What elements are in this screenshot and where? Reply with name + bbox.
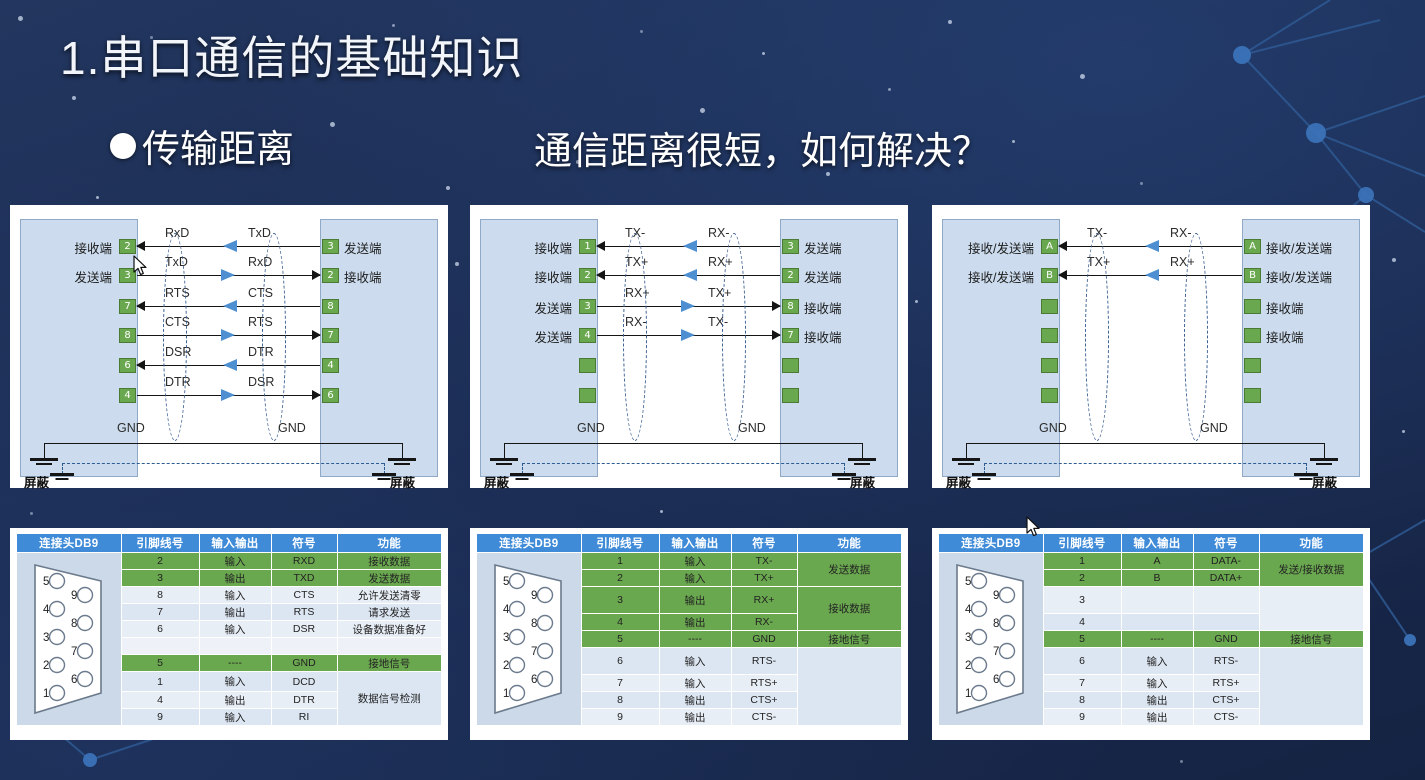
cell-pin: 4 (1043, 614, 1121, 631)
cell-function: 允许发送清零 (337, 587, 442, 604)
svg-text:6: 6 (71, 674, 77, 686)
cell-function: 接收数据 (797, 587, 902, 631)
cell-pin: 5 (581, 631, 659, 648)
cell-io: 输出 (199, 692, 271, 709)
svg-text:1: 1 (965, 688, 971, 700)
db9-connector-graphic: 543219876 (487, 553, 571, 725)
pin-left-4: 6 (119, 358, 136, 373)
cell-symbol: CTS+ (1193, 692, 1259, 709)
cell-function: 接地信号 (797, 631, 902, 648)
cell-io: 输出 (659, 692, 731, 709)
pin-left-3: 8 (119, 328, 136, 343)
cell-io: B (1121, 570, 1193, 587)
pin-right-2: 8 (322, 299, 339, 314)
cell-io: 输入 (659, 553, 731, 570)
svg-text:2: 2 (43, 660, 49, 672)
svg-text:9: 9 (531, 590, 537, 602)
device-left (20, 219, 138, 477)
pin-right-0: 3 (322, 239, 339, 254)
table-row[interactable]: 5432198761输入TX-发送数据 (477, 553, 902, 570)
svg-text:8: 8 (993, 618, 999, 630)
cell-function (797, 648, 902, 726)
ground-stem-right (862, 443, 863, 459)
cell-symbol: DATA- (1193, 553, 1259, 570)
ground-symbol-left (490, 458, 518, 466)
cell-pin: 8 (581, 692, 659, 709)
twisted-pair-oval-right (262, 233, 286, 441)
arrow-left-4 (136, 360, 145, 370)
svg-text:5: 5 (965, 576, 971, 588)
cell-io: 输出 (199, 570, 271, 587)
pin-left-5 (1041, 388, 1058, 403)
cell-pin: 2 (121, 553, 199, 570)
diagram-card-rs232: 23接收端发送端RxDTxD32发送端接收端TxDRxD78RTSCTS87CT… (10, 205, 448, 488)
pin-right-2: 8 (782, 299, 799, 314)
cell-io: 输入 (199, 709, 271, 726)
cell-pin: 1 (1043, 553, 1121, 570)
pin-right-5: 6 (322, 388, 339, 403)
ground-bus (504, 443, 862, 444)
cell-io: ---- (1121, 631, 1193, 648)
cell-pin: 3 (581, 587, 659, 614)
cell-io: 输入 (659, 648, 731, 675)
svg-text:8: 8 (531, 618, 537, 630)
cell-symbol: CTS- (1193, 709, 1259, 726)
cell-symbol: RI (271, 709, 337, 726)
table-header-2: 输入输出 (659, 534, 731, 553)
pin-left-4 (1041, 358, 1058, 373)
db9-cell: 543219876 (477, 553, 582, 726)
cell-symbol (1193, 614, 1259, 631)
cell-function: 请求发送 (337, 604, 442, 621)
pin-left-0: 2 (119, 239, 136, 254)
svg-text:5: 5 (503, 576, 509, 588)
cell-io: 输出 (199, 604, 271, 621)
pin-left-0: A (1041, 239, 1058, 254)
arrow-mid-3 (681, 329, 695, 341)
cell-symbol: DTR (271, 692, 337, 709)
table-header-0: 连接头DB9 (939, 534, 1044, 553)
cell-symbol: GND (731, 631, 797, 648)
svg-text:7: 7 (531, 646, 537, 658)
device-right (320, 219, 438, 477)
cell-pin: 7 (581, 675, 659, 692)
gnd-label-left: GND (577, 421, 605, 435)
twisted-pair-oval-right (722, 233, 746, 441)
cell-io (1121, 587, 1193, 614)
end-label-left-1: 接收端 (482, 267, 572, 286)
pin-right-3: 7 (782, 328, 799, 343)
end-label-right-0: 接收/发送端 (1266, 238, 1332, 257)
svg-text:9: 9 (71, 590, 77, 602)
pin-left-5 (579, 388, 596, 403)
arrow-mid-4 (223, 359, 237, 371)
spacer-cell (199, 638, 271, 655)
pin-left-2: 3 (579, 299, 596, 314)
pin-right-1: B (1244, 268, 1261, 283)
pin-right-5 (1244, 388, 1261, 403)
gnd-label-right: GND (738, 421, 766, 435)
pin-left-1: 2 (579, 268, 596, 283)
cell-io: 输入 (659, 675, 731, 692)
arrow-mid-0 (223, 240, 237, 252)
ground-stem-left (966, 443, 967, 459)
spacer-cell (337, 638, 442, 655)
ground-stem-right (402, 443, 403, 459)
table-header-1: 引脚线号 (581, 534, 659, 553)
svg-text:6: 6 (531, 674, 537, 686)
cell-symbol: RXD (271, 553, 337, 570)
cell-function: 发送/接收数据 (1259, 553, 1364, 587)
cell-pin: 4 (121, 692, 199, 709)
table-card-rs485: 连接头DB9引脚线号输入输出符号功能 5432198761ADATA-发送/接收… (932, 528, 1370, 740)
arrow-mid-1 (221, 269, 235, 281)
cell-pin: 1 (121, 672, 199, 692)
shield-label-left: 屏蔽 (24, 472, 49, 491)
cell-symbol: RX- (731, 614, 797, 631)
table-row[interactable]: 5432198762输入RXD接收数据 (17, 553, 442, 570)
cell-symbol: RTS+ (1193, 675, 1259, 692)
cell-function: 发送数据 (337, 570, 442, 587)
end-label-right-1: 接收端 (344, 267, 382, 286)
pin-left-3: 4 (579, 328, 596, 343)
device-left (480, 219, 598, 477)
ground-symbol-right (388, 458, 416, 466)
pin-right-5 (782, 388, 799, 403)
bullet-dot-icon (110, 133, 136, 159)
cell-function: 接地信号 (1259, 631, 1364, 648)
pin-right-0: 3 (782, 239, 799, 254)
device-right (1242, 219, 1360, 477)
shield-bus (62, 463, 384, 464)
gnd-label-right: GND (278, 421, 306, 435)
arrow-mid-2 (681, 300, 695, 312)
end-label-right-1: 发送端 (804, 267, 842, 286)
ground-symbol-right (848, 458, 876, 466)
pin-left-4 (579, 358, 596, 373)
db9-connector-graphic: 543219876 (949, 553, 1033, 725)
end-label-right-3: 接收端 (1266, 327, 1304, 346)
cell-symbol: RTS+ (731, 675, 797, 692)
svg-text:9: 9 (993, 590, 999, 602)
cell-symbol: TX+ (731, 570, 797, 587)
cell-pin: 9 (581, 709, 659, 726)
shield-label-right: 屏蔽 (850, 472, 875, 491)
cell-symbol: TX- (731, 553, 797, 570)
end-label-right-0: 发送端 (344, 238, 382, 257)
table-header-4: 功能 (797, 534, 902, 553)
cell-pin: 1 (581, 553, 659, 570)
end-label-left-3: 发送端 (482, 327, 572, 346)
cell-function: 数据信号检测 (337, 672, 442, 726)
end-label-right-1: 接收/发送端 (1266, 267, 1332, 286)
cell-io: 输入 (659, 570, 731, 587)
cell-io: 输入 (199, 553, 271, 570)
pin-left-0: 1 (579, 239, 596, 254)
table-header-2: 输入输出 (1121, 534, 1193, 553)
cell-pin: 5 (121, 655, 199, 672)
arrow-mid-2 (223, 300, 237, 312)
shield-symbol-left (510, 473, 534, 481)
cell-symbol: DATA+ (1193, 570, 1259, 587)
cell-function (1259, 648, 1364, 726)
cell-symbol: CTS+ (731, 692, 797, 709)
cell-function: 接地信号 (337, 655, 442, 672)
device-right (780, 219, 898, 477)
svg-text:2: 2 (503, 660, 509, 672)
table-header-4: 功能 (337, 534, 442, 553)
arrow-left-1 (596, 270, 605, 280)
cell-symbol: CTS- (731, 709, 797, 726)
cell-io: 输出 (659, 587, 731, 614)
cell-pin: 8 (1043, 692, 1121, 709)
pin-right-3: 7 (322, 328, 339, 343)
ground-stem-right (1324, 443, 1325, 459)
cell-io: 输入 (199, 672, 271, 692)
ground-bus (44, 443, 402, 444)
pin-left-3 (1041, 328, 1058, 343)
ground-symbol-right (1310, 458, 1338, 466)
end-label-left-1: 发送端 (22, 267, 112, 286)
cell-pin: 7 (121, 604, 199, 621)
arrow-mid-3 (221, 329, 235, 341)
twisted-pair-oval-left (1085, 233, 1109, 441)
ground-bus (966, 443, 1324, 444)
pin-right-3 (1244, 328, 1261, 343)
cell-pin: 6 (1043, 648, 1121, 675)
shield-label-right: 屏蔽 (390, 472, 415, 491)
cell-pin: 2 (581, 570, 659, 587)
cell-io: A (1121, 553, 1193, 570)
cell-io: 输出 (659, 614, 731, 631)
pin-left-1: 3 (119, 268, 136, 283)
table-header-3: 符号 (1193, 534, 1259, 553)
shield-label-left: 屏蔽 (484, 472, 509, 491)
diagram-card-rs422: 13接收端发送端TX-RX-22接收端发送端TX+RX+38发送端接收端RX+T… (470, 205, 908, 488)
svg-text:3: 3 (965, 632, 971, 644)
twisted-pair-oval-left (623, 233, 647, 441)
end-label-right-0: 发送端 (804, 238, 842, 257)
cell-pin: 8 (121, 587, 199, 604)
cell-pin: 9 (1043, 709, 1121, 726)
svg-text:8: 8 (71, 618, 77, 630)
cell-io (1121, 614, 1193, 631)
arrow-right-3 (772, 330, 781, 340)
pin-left-5: 4 (119, 388, 136, 403)
table-header-2: 输入输出 (199, 534, 271, 553)
svg-text:1: 1 (43, 688, 49, 700)
shield-bus (984, 463, 1306, 464)
cell-pin: 3 (1043, 587, 1121, 614)
gnd-label-left: GND (1039, 421, 1067, 435)
svg-text:4: 4 (965, 604, 972, 616)
arrow-mid-1 (683, 269, 697, 281)
cell-io: 输出 (659, 709, 731, 726)
shield-symbol-left (972, 473, 996, 481)
arrow-right-3 (312, 330, 321, 340)
cell-pin: 5 (1043, 631, 1121, 648)
cell-pin: 6 (581, 648, 659, 675)
pin-right-0: A (1244, 239, 1261, 254)
cell-function: 接收数据 (337, 553, 442, 570)
device-left (942, 219, 1060, 477)
table-header-3: 符号 (731, 534, 797, 553)
shield-label-right: 屏蔽 (1312, 472, 1337, 491)
pin-right-4: 4 (322, 358, 339, 373)
cell-io: 输出 (1121, 709, 1193, 726)
end-label-right-2: 接收端 (1266, 298, 1304, 317)
end-label-left-1: 接收/发送端 (944, 267, 1034, 286)
arrow-left-0 (1058, 241, 1067, 251)
arrow-mid-5 (221, 389, 235, 401)
pin-right-1: 2 (782, 268, 799, 283)
subtitle-row: 传输距离 通信距离很短，如何解决？ (110, 118, 1310, 174)
cell-io: 输入 (1121, 648, 1193, 675)
pin-right-4 (1244, 358, 1261, 373)
end-label-left-0: 接收端 (22, 238, 112, 257)
table-header-4: 功能 (1259, 534, 1364, 553)
cell-pin: 9 (121, 709, 199, 726)
signal-right-0: TxD (248, 226, 271, 240)
cell-symbol: CTS (271, 587, 337, 604)
svg-text:4: 4 (43, 604, 50, 616)
cell-io: ---- (199, 655, 271, 672)
table-header-0: 连接头DB9 (477, 534, 582, 553)
cell-io: 输入 (1121, 675, 1193, 692)
shield-label-left: 屏蔽 (946, 472, 971, 491)
cell-function: 设备数据准备好 (337, 621, 442, 638)
table-card-rs422: 连接头DB9引脚线号输入输出符号功能 5432198761输入TX-发送数据2输… (470, 528, 908, 740)
arrow-left-2 (136, 301, 145, 311)
cell-pin: 6 (121, 621, 199, 638)
cell-pin: 7 (1043, 675, 1121, 692)
ground-symbol-left (952, 458, 980, 466)
spacer-cell (271, 638, 337, 655)
signal-right-0: RX- (708, 226, 730, 240)
end-label-left-0: 接收/发送端 (944, 238, 1034, 257)
cell-symbol (1193, 587, 1259, 614)
ground-stem-left (44, 443, 45, 459)
cell-function: 发送数据 (797, 553, 902, 587)
gnd-label-left: GND (117, 421, 145, 435)
cell-function (1259, 587, 1364, 631)
end-label-left-2: 发送端 (482, 298, 572, 317)
db9-cell: 543219876 (939, 553, 1044, 726)
pin-right-4 (782, 358, 799, 373)
table-row[interactable]: 5432198761ADATA-发送/接收数据 (939, 553, 1364, 570)
pin-right-1: 2 (322, 268, 339, 283)
bullet-item-transmission-distance: 传输距离 (110, 118, 294, 173)
arrow-mid-0 (683, 240, 697, 252)
bullet-label: 传输距离 (142, 118, 294, 173)
pin-left-2: 7 (119, 299, 136, 314)
end-label-right-2: 接收端 (804, 298, 842, 317)
cell-pin: 3 (121, 570, 199, 587)
svg-text:1: 1 (503, 688, 509, 700)
svg-text:7: 7 (71, 646, 77, 658)
db9-connector-graphic: 543219876 (27, 553, 111, 725)
cell-symbol: RTS- (731, 648, 797, 675)
cell-symbol: DCD (271, 672, 337, 692)
end-label-right-3: 接收端 (804, 327, 842, 346)
arrow-left-1 (1058, 270, 1067, 280)
cell-symbol: GND (271, 655, 337, 672)
table-header-3: 符号 (271, 534, 337, 553)
cell-pin: 4 (581, 614, 659, 631)
gnd-label-right: GND (1200, 421, 1228, 435)
cell-symbol: RTS (271, 604, 337, 621)
cell-symbol: DSR (271, 621, 337, 638)
cell-io: 输出 (1121, 692, 1193, 709)
svg-text:6: 6 (993, 674, 999, 686)
arrow-left-0 (596, 241, 605, 251)
cell-symbol: GND (1193, 631, 1259, 648)
table-header-0: 连接头DB9 (17, 534, 122, 553)
svg-text:3: 3 (503, 632, 509, 644)
svg-text:7: 7 (993, 646, 999, 658)
arrow-right-2 (772, 301, 781, 311)
cell-pin: 2 (1043, 570, 1121, 587)
shield-bus (522, 463, 844, 464)
arrow-mid-0 (1145, 240, 1159, 252)
svg-text:5: 5 (43, 576, 49, 588)
svg-text:4: 4 (503, 604, 510, 616)
cell-io: 输入 (199, 621, 271, 638)
ground-stem-left (504, 443, 505, 459)
table-card-rs232: 连接头DB9引脚线号输入输出符号功能 5432198762输入RXD接收数据3输… (10, 528, 448, 740)
ground-symbol-left (30, 458, 58, 466)
arrow-mid-1 (1145, 269, 1159, 281)
page-title: 1.串口通信的基础知识 (60, 22, 523, 88)
pin-left-1: B (1041, 268, 1058, 283)
arrow-right-1 (312, 270, 321, 280)
end-label-left-0: 接收端 (482, 238, 572, 257)
cell-io: 输入 (199, 587, 271, 604)
arrow-right-5 (312, 390, 321, 400)
table-header-1: 引脚线号 (121, 534, 199, 553)
pin-right-2 (1244, 299, 1261, 314)
diagram-card-rs485: AA接收/发送端接收/发送端TX-RX-BB接收/发送端接收/发送端TX+RX+… (932, 205, 1370, 488)
shield-symbol-left (50, 473, 74, 481)
spacer-cell (121, 638, 199, 655)
table-header-1: 引脚线号 (1043, 534, 1121, 553)
cell-symbol: RTS- (1193, 648, 1259, 675)
cell-io: ---- (659, 631, 731, 648)
question-text: 通信距离很短，如何解决？ (534, 120, 990, 175)
cell-symbol: RX+ (731, 587, 797, 614)
svg-text:3: 3 (43, 632, 49, 644)
arrow-left-0 (136, 241, 145, 251)
signal-right-0: RX- (1170, 226, 1192, 240)
cell-symbol: TXD (271, 570, 337, 587)
twisted-pair-oval-left (163, 233, 187, 441)
svg-text:2: 2 (965, 660, 971, 672)
db9-cell: 543219876 (17, 553, 122, 726)
twisted-pair-oval-right (1184, 233, 1208, 441)
pin-left-2 (1041, 299, 1058, 314)
